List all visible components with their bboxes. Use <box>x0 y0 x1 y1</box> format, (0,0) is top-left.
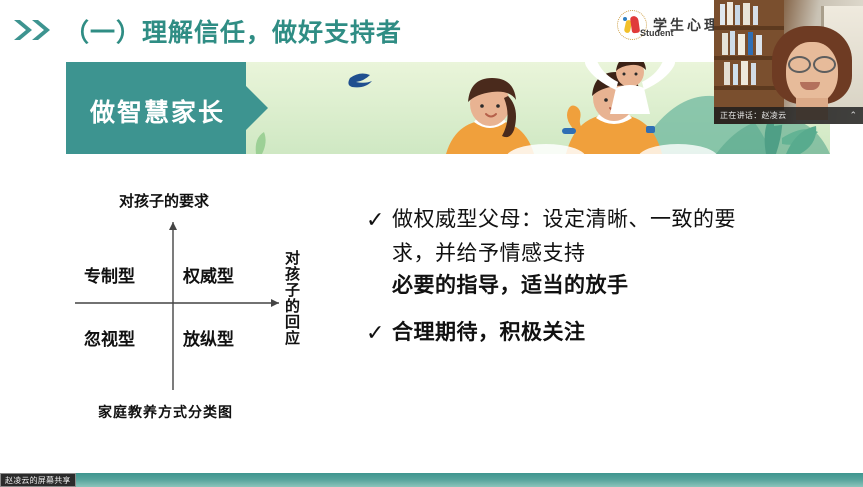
banner-label: 做智慧家长 <box>90 93 225 129</box>
bullet-spacer <box>366 303 836 317</box>
diagram-y-axis-label: 对孩子的要求 <box>119 190 209 211</box>
banner-tab: 做智慧家长 <box>66 62 246 154</box>
slide-heading-row: （一）理解信任，做好支持者 <box>0 6 700 46</box>
bullet-item-1-line-2: 求，并给予情感支持 <box>392 238 586 268</box>
bullet-item-2-line-1: 合理期待，积极关注 <box>392 317 586 347</box>
chevron-up-icon[interactable]: ⌃ <box>849 111 857 120</box>
speaker-name-label: 正在讲话：赵凌云 <box>720 110 786 121</box>
screen-share-bar: 赵凌云的屏幕共享 <box>0 473 863 487</box>
diagram-quadrant-top-right: 权威型 <box>183 262 234 287</box>
check-icon: ✓ <box>366 204 392 236</box>
screen-share-label: 赵凌云的屏幕共享 <box>5 475 71 486</box>
webcam-thumbnail <box>714 0 863 124</box>
check-icon: ✓ <box>366 317 392 349</box>
diagram-caption: 家庭教养方式分类图 <box>98 402 233 422</box>
org-logo-title-en: Student <box>640 28 674 38</box>
diagram-quadrant-bottom-right: 放纵型 <box>183 325 234 350</box>
bullet-item-2: ✓ 合理期待，积极关注 <box>366 317 836 349</box>
bullet-item-1-line-1: 做权威型父母：设定清晰、一致的要 <box>392 204 736 234</box>
bullet-item-1-line-3: 必要的指导，适当的放手 <box>392 270 629 300</box>
bullet-item-1: ✓ 做权威型父母：设定清晰、一致的要 <box>366 204 836 236</box>
speaker-video-panel[interactable]: 正在讲话：赵凌云 ⌃ <box>714 0 863 124</box>
diagram-quadrant-bottom-left: 忽视型 <box>84 325 135 350</box>
screen-share-badge: 赵凌云的屏幕共享 <box>0 473 76 487</box>
diagram-x-axis-label: 对孩子的回应 <box>284 250 299 346</box>
bullet-list: ✓ 做权威型父母：设定清晰、一致的要 求，并给予情感支持 必要的指导，适当的放手… <box>366 204 836 351</box>
bullet-item-1-continued: 求，并给予情感支持 <box>392 238 836 268</box>
double-chevron-right-icon <box>12 18 60 42</box>
speaker-label-bar: 正在讲话：赵凌云 ⌃ <box>714 107 863 124</box>
page-title: （一）理解信任，做好支持者 <box>64 13 402 49</box>
bullet-item-1-extra: 必要的指导，适当的放手 <box>392 270 836 300</box>
diagram-quadrant-top-left: 专制型 <box>84 262 135 287</box>
parenting-style-quadrant-diagram: 对孩子的要求 对孩子的回应 专制型 权威型 忽视型 放纵型 家庭教养方式分类图 <box>75 190 335 435</box>
screen-share-stage: （一）理解信任，做好支持者 学生心理健康教育中心 Student <box>0 0 863 487</box>
